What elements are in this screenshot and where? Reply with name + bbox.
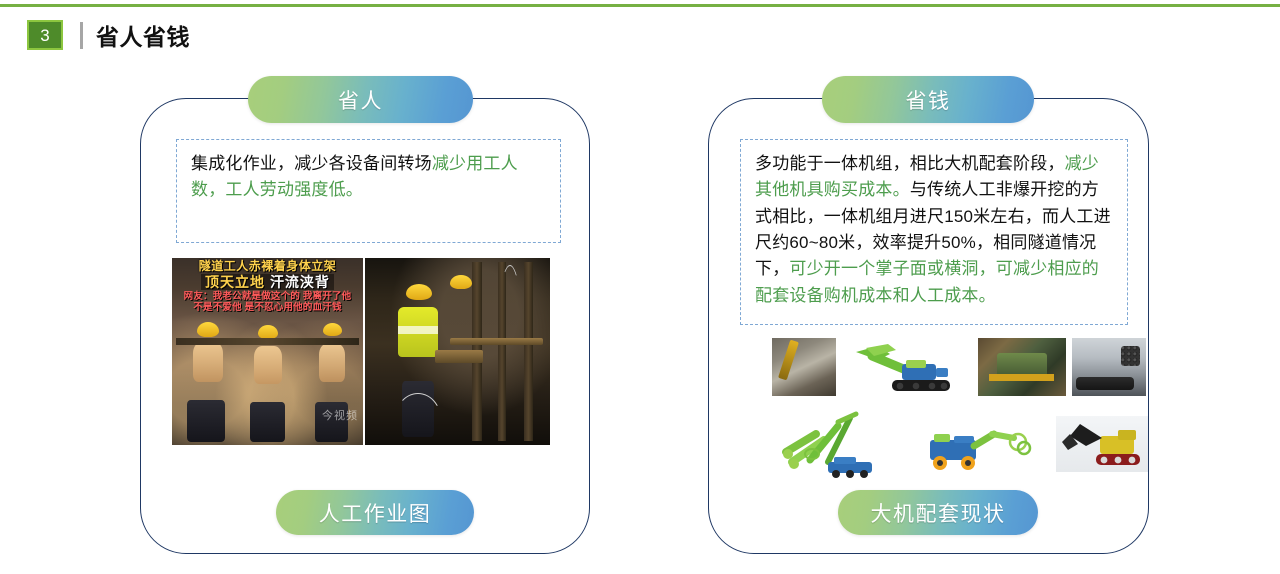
page-title: 省人省钱 xyxy=(96,18,190,52)
roadheader-machine-photo xyxy=(1072,338,1146,396)
left-panel-photo-group: 隧道工人赤裸着身体立架 顶天立地 汗流浃背 网友：我老公就是做这个的 我离开了他… xyxy=(172,258,550,445)
yellow-tracked-excavator-image xyxy=(1056,416,1148,472)
title-separator xyxy=(80,22,83,49)
photo-caption-overlay: 隧道工人赤裸着身体立架 顶天立地 汗流浃背 网友：我老公就是做这个的 我离开了他… xyxy=(172,260,363,314)
right-panel-text-box: 多功能于一体机组，相比大机配套阶段，减少其他机具购买成本。与传统人工非爆开挖的方… xyxy=(740,139,1128,325)
photo-caption-line-4: 不是不爱他 是不忍心用他的血汗钱 xyxy=(172,303,363,314)
slide-number-badge: 3 xyxy=(27,20,63,50)
tunnel-face-drilling-photo xyxy=(772,338,836,396)
right-text-highlight-2: 可少开一个掌子面或横洞，可减少相应的配套设备购机成本和人工成本。 xyxy=(755,259,1099,304)
tunnel-workers-photo: 隧道工人赤裸着身体立架 顶天立地 汗流浃背 网友：我老公就是做这个的 我离开了他… xyxy=(172,258,363,445)
left-panel-footer-pill[interactable]: 人工作业图 xyxy=(276,490,474,535)
top-accent-rule xyxy=(0,4,1280,7)
photo-caption-line-2a: 顶天立地 xyxy=(205,274,265,290)
right-text-plain-1: 多功能于一体机组，相比大机配套阶段， xyxy=(755,154,1065,173)
equipment-photo-grid xyxy=(756,338,1146,486)
left-panel-heading-pill[interactable]: 省人 xyxy=(248,76,473,123)
shotcrete-spraying-machine-image xyxy=(924,420,1036,478)
left-panel-text-box: 集成化作业，减少各设备间转场减少用工人数，工人劳动强度低。 xyxy=(176,139,561,243)
right-panel-heading-pill[interactable]: 省钱 xyxy=(822,76,1034,123)
photo-caption-line-1: 隧道工人赤裸着身体立架 xyxy=(172,260,363,274)
photo-caption-line-2: 顶天立地 汗流浃背 xyxy=(201,274,334,290)
slide-header: 3 省人省钱 xyxy=(0,14,1280,56)
tunnel-excavator-photo xyxy=(978,338,1066,396)
photo-caption-line-2b: 汗流浃背 xyxy=(270,274,330,290)
right-panel-footer-pill[interactable]: 大机配套现状 xyxy=(838,490,1038,535)
photo-watermark: 今视频 xyxy=(322,407,358,423)
left-text-plain: 集成化作业，减少各设备间转场 xyxy=(191,154,432,173)
manual-drilling-photo xyxy=(365,258,550,445)
multi-boom-drilling-jumbo-image xyxy=(776,408,894,480)
drilling-jumbo-machine-image xyxy=(848,340,958,398)
